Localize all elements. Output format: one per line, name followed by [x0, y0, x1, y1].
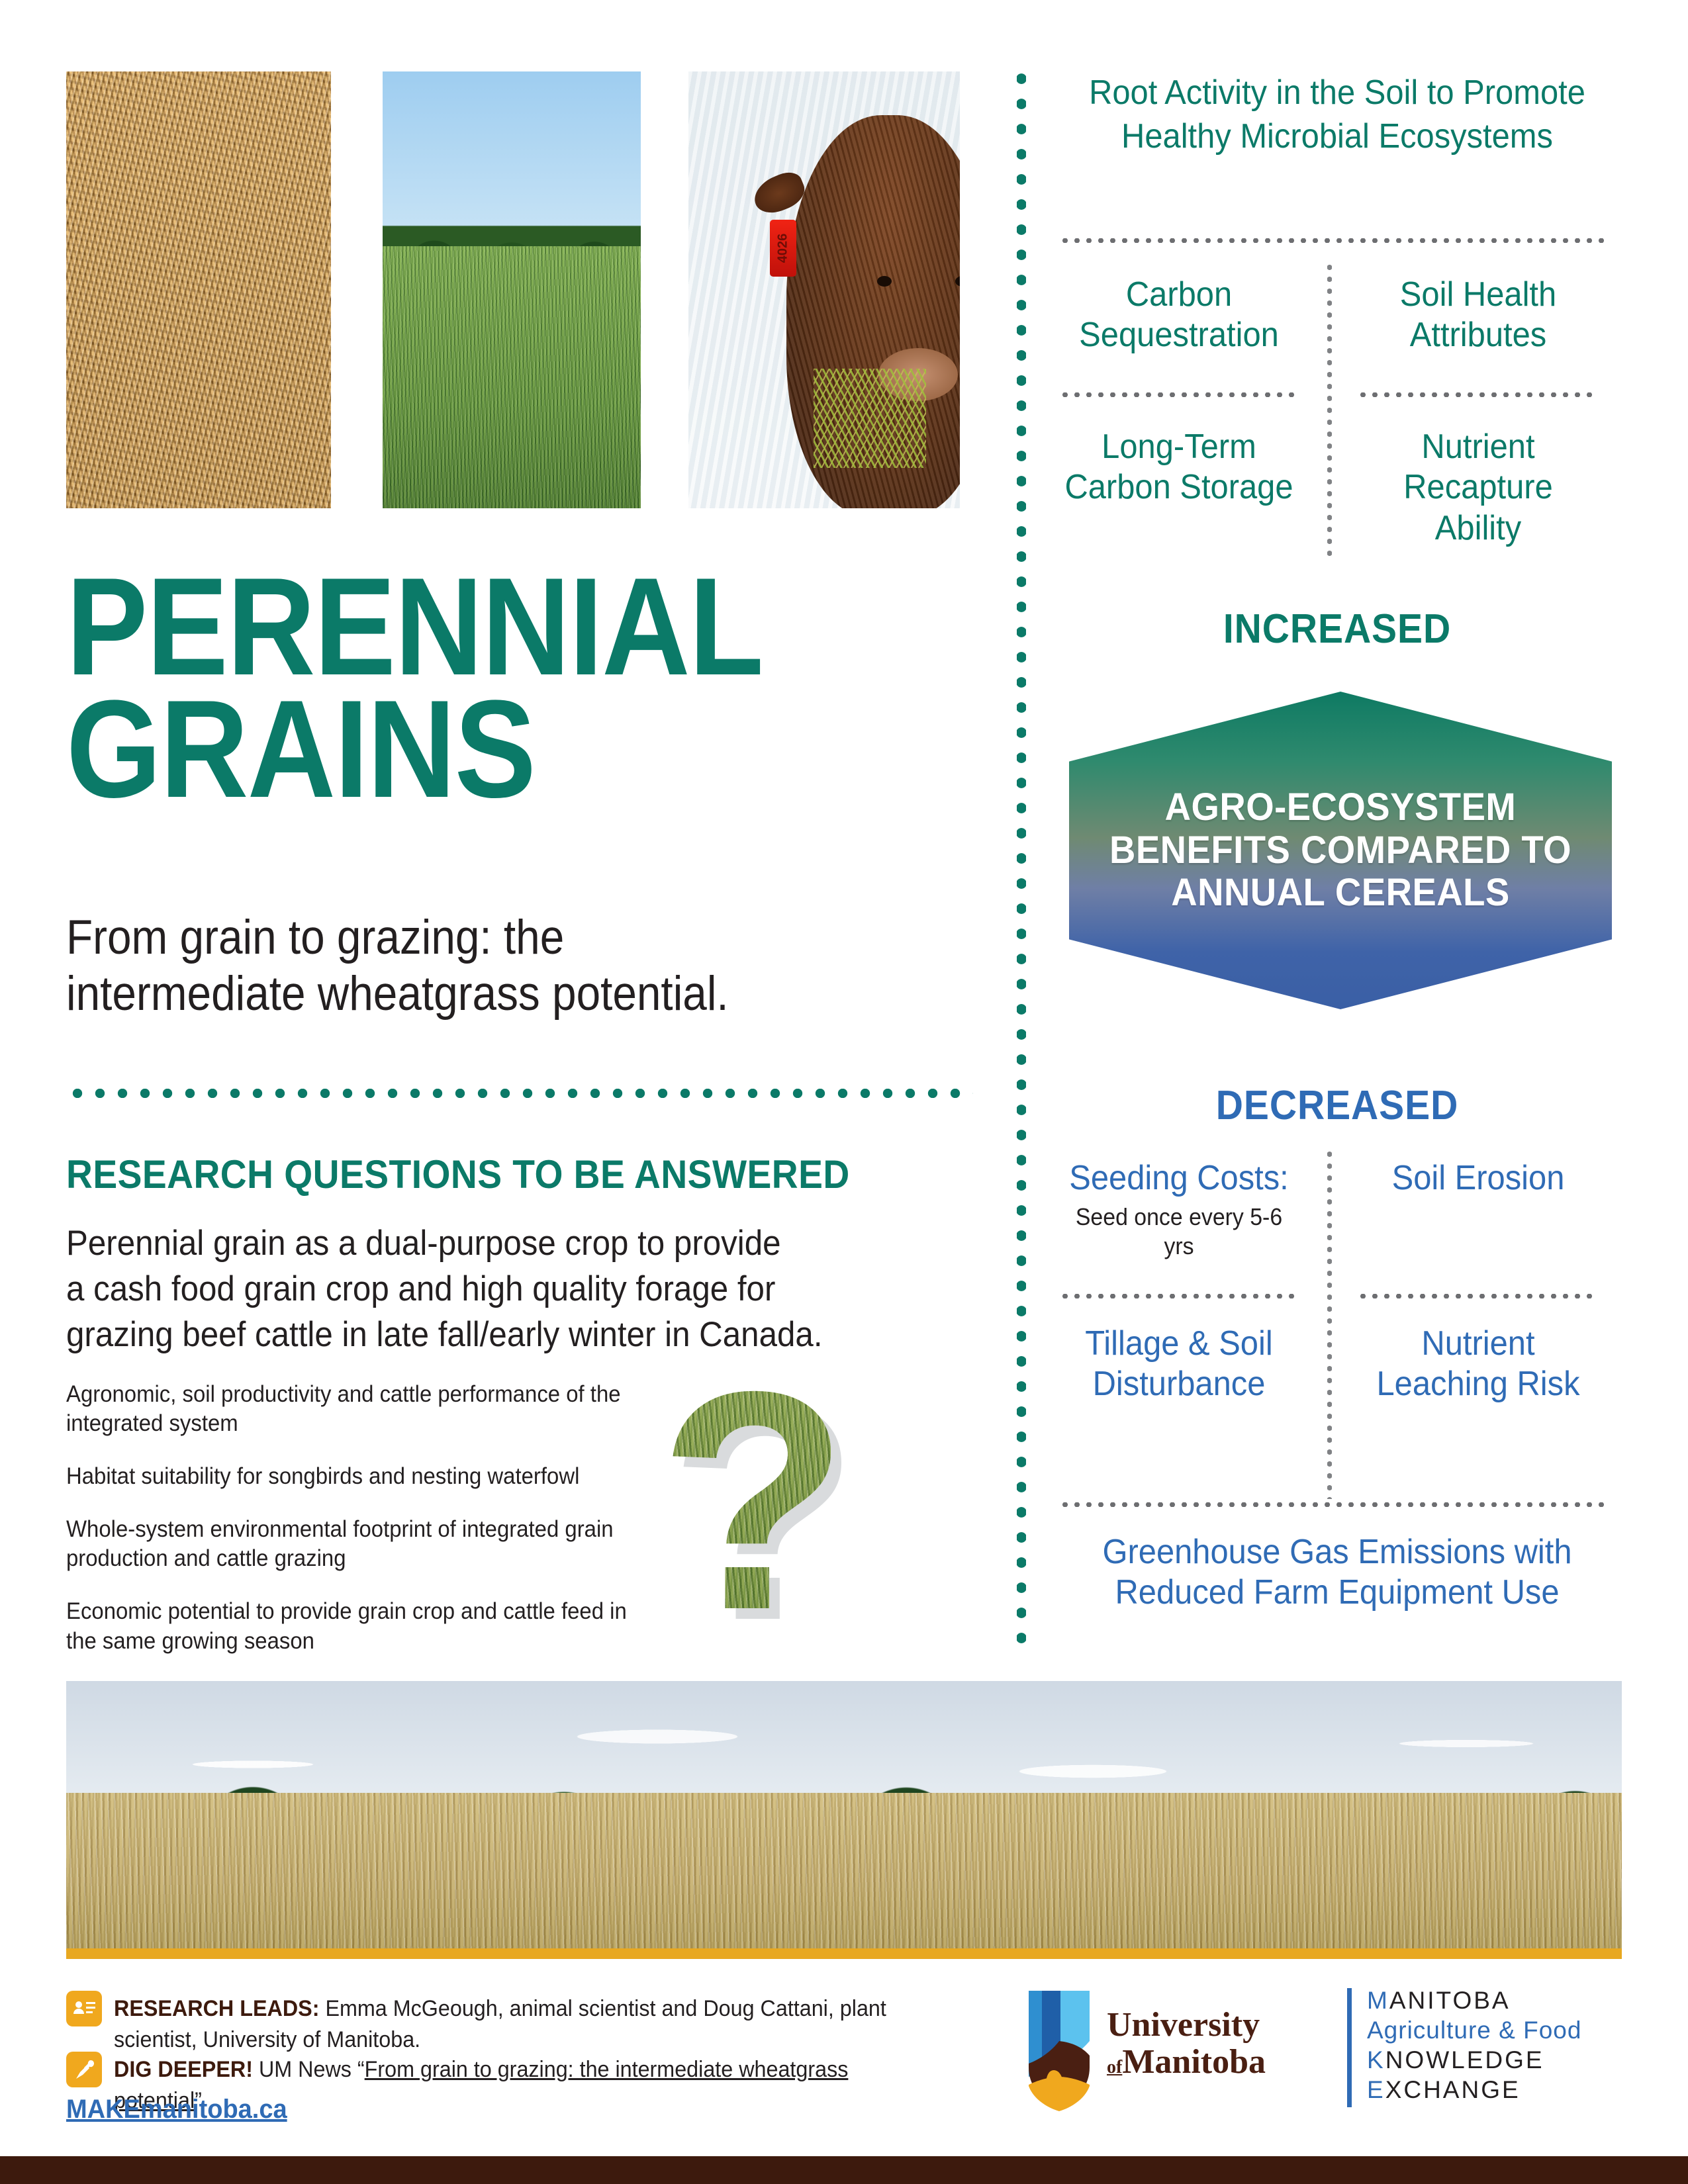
- page-subtitle: From grain to grazing: the intermediate …: [66, 910, 865, 1022]
- um-wordmark-manitoba: Manitoba: [1122, 2043, 1266, 2081]
- calf-grazing-in-snow-photo: [688, 71, 960, 508]
- page-title-line-2: GRAINS: [66, 688, 847, 811]
- bottom-accent-bar: [0, 2156, 1688, 2184]
- page-subtitle-line-2: intermediate wheatgrass potential.: [66, 966, 865, 1023]
- grass-region: [383, 246, 641, 508]
- grass-in-mouth: [814, 369, 926, 468]
- calf-eye-left: [877, 276, 892, 287]
- hexagon-shape: AGRO-ECOSYSTEM BENEFITS COMPARED TO ANNU…: [1069, 692, 1612, 1009]
- subtitle-divider: [66, 1089, 973, 1098]
- make-line-4-rest: XCHANGE: [1385, 2076, 1521, 2103]
- make-logo-line-1: MANITOBA: [1367, 1985, 1581, 2015]
- question-mark-graphic: ? ?: [659, 1380, 884, 1658]
- um-wordmark: University ofManitoba: [1107, 2008, 1266, 2079]
- agro-ecosystem-hexagon-badge: AGRO-ECOSYSTEM BENEFITS COMPARED TO ANNU…: [1069, 692, 1612, 1009]
- make-logo-line-3: KNOWLEDGE: [1367, 2045, 1581, 2075]
- benefit-cell-nutrient-recapture-ability: Nutrient Recapture Ability: [1363, 427, 1593, 549]
- research-leads-label: RESEARCH LEADS:: [114, 1996, 319, 2021]
- benefits-divider-3b: [1357, 1294, 1599, 1298]
- benefit-cell-soil-health-attributes: Soil Health Attributes: [1363, 275, 1593, 356]
- benefit-cell-nutrient-leaching-risk: Nutrient Leaching Risk: [1363, 1324, 1593, 1405]
- benefit-cell-seeding-costs: Seeding Costs: Seed once every 5-6 yrs: [1064, 1158, 1294, 1260]
- benefits-divider-2b: [1357, 392, 1599, 397]
- seeding-costs-subtext: Seed once every 5-6 yrs: [1064, 1203, 1294, 1259]
- page-title-line-1: PERENNIAL: [66, 566, 847, 688]
- benefits-divider-2a: [1059, 392, 1301, 397]
- make-line-1-rest: ANITOBA: [1389, 1987, 1511, 2014]
- research-leads-line: RESEARCH LEADS: Emma McGeough, animal sc…: [114, 1993, 919, 2056]
- make-logo-bar: [1347, 1988, 1352, 2107]
- benefits-cell-divider-v2: [1327, 1148, 1332, 1499]
- decreased-label: DECREASED: [1066, 1082, 1609, 1129]
- list-item: Whole-system environmental footprint of …: [66, 1515, 645, 1573]
- make-logo-line-4: EXCHANGE: [1367, 2075, 1581, 2105]
- dig-deeper-label: DIG DEEPER!: [114, 2057, 253, 2082]
- make-manitoba-logo: MANITOBA Agriculture & Food KNOWLEDGE EX…: [1347, 1985, 1625, 2118]
- list-item: Economic potential to provide grain crop…: [66, 1597, 645, 1655]
- um-wordmark-line-2: ofManitoba: [1107, 2045, 1266, 2079]
- grain-seeds-photo: [66, 71, 331, 508]
- seeding-costs-title: Seeding Costs:: [1069, 1159, 1288, 1197]
- benefits-cell-divider-v1: [1327, 261, 1332, 559]
- pano-dry-grass: [66, 1793, 1622, 1948]
- increased-label: INCREASED: [1066, 606, 1609, 653]
- list-item: Agronomic, soil productivity and cattle …: [66, 1380, 645, 1438]
- benefits-top-statement: Root Activity in the Soil to Promote Hea…: [1060, 71, 1615, 158]
- research-questions-heading: RESEARCH QUESTIONS TO BE ANSWERED: [66, 1152, 907, 1197]
- dig-deeper-prefix: UM News “: [253, 2057, 365, 2082]
- hexagon-label: AGRO-ECOSYSTEM BENEFITS COMPARED TO ANNU…: [1086, 786, 1596, 915]
- benefit-cell-tillage-soil-disturbance: Tillage & Soil Disturbance: [1064, 1324, 1294, 1405]
- benefits-divider-3a: [1059, 1294, 1301, 1298]
- benefits-divider-4: [1059, 1502, 1609, 1507]
- mature-grass-field-panorama-photo: [66, 1681, 1622, 1959]
- make-line-3-rest: NOWLEDGE: [1385, 2046, 1544, 2073]
- make-manitoba-url-link[interactable]: MAKEmanitoba.ca: [66, 2095, 287, 2124]
- university-of-manitoba-logo: University ofManitoba: [1019, 1985, 1297, 2118]
- um-wordmark-of: of: [1107, 2057, 1122, 2077]
- research-intro-line-2: a cash food grain crop and high quality …: [66, 1267, 885, 1312]
- benefit-cell-greenhouse-gas-emissions: Greenhouse Gas Emissions with Reduced Fa…: [1060, 1532, 1615, 1614]
- page-title: PERENNIAL GRAINS: [66, 566, 847, 811]
- wheatgrass-field-photo: [383, 71, 641, 508]
- ear-tag: [770, 220, 796, 277]
- benefit-cell-carbon-sequestration: Carbon Sequestration: [1064, 275, 1294, 356]
- research-intro-line-1: Perennial grain as a dual-purpose crop t…: [66, 1221, 885, 1267]
- um-wordmark-line-1: University: [1107, 2008, 1266, 2042]
- calf-eye-right: [955, 276, 960, 287]
- pano-gold-accent-bar: [66, 1948, 1622, 1959]
- contact-card-icon: [66, 1991, 102, 2026]
- column-divider: [1017, 66, 1026, 1648]
- trowel-icon: [66, 2052, 102, 2087]
- benefit-cell-soil-erosion: Soil Erosion: [1363, 1158, 1593, 1199]
- research-question-list: Agronomic, soil productivity and cattle …: [66, 1380, 682, 1680]
- benefits-divider-1: [1059, 238, 1609, 243]
- benefit-cell-long-term-carbon-storage: Long-Term Carbon Storage: [1064, 427, 1294, 508]
- make-logo-line-2: Agriculture & Food: [1367, 2015, 1581, 2045]
- question-mark-glyph: ?: [659, 1380, 849, 1623]
- page-subtitle-line-1: From grain to grazing: the: [66, 910, 865, 966]
- um-shield-icon: [1019, 1985, 1099, 2111]
- make-logo-lines: MANITOBA Agriculture & Food KNOWLEDGE EX…: [1367, 1985, 1581, 2105]
- list-item: Habitat suitability for songbirds and ne…: [66, 1462, 645, 1491]
